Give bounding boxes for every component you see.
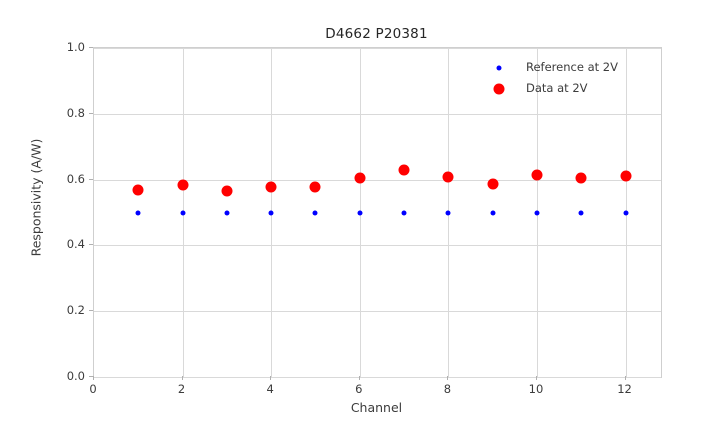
x-tick-label: 4 xyxy=(250,382,290,396)
data-point-data xyxy=(487,179,498,190)
x-tick-label: 2 xyxy=(162,382,202,396)
data-point-reference xyxy=(269,210,274,215)
chart-figure: D4662 P20381 0.00.20.40.60.81.0 Channel … xyxy=(0,0,720,432)
x-tick-label: 8 xyxy=(427,382,467,396)
x-tick-mark xyxy=(93,376,94,380)
y-tick-label: 0.4 xyxy=(45,237,85,251)
y-tick-label: 0.6 xyxy=(45,172,85,186)
data-point-reference xyxy=(446,210,451,215)
data-point-reference xyxy=(490,210,495,215)
data-point-data xyxy=(133,185,144,196)
data-point-data xyxy=(354,172,365,183)
y-tick-label: 0.2 xyxy=(45,303,85,317)
data-point-data xyxy=(576,172,587,183)
data-point-reference xyxy=(180,210,185,215)
gridline-horizontal xyxy=(94,377,661,378)
data-point-reference xyxy=(534,210,539,215)
chart-title: D4662 P20381 xyxy=(93,26,660,42)
x-tick-mark xyxy=(270,376,271,380)
x-tick-mark xyxy=(359,376,360,380)
data-point-data xyxy=(399,165,410,176)
x-tick-label: 10 xyxy=(516,382,556,396)
data-point-reference xyxy=(623,210,628,215)
legend-marker-data-icon xyxy=(494,84,505,95)
y-tick-mark xyxy=(89,113,93,114)
data-point-reference xyxy=(579,210,584,215)
data-point-data xyxy=(443,171,454,182)
x-axis-label: Channel xyxy=(93,400,660,415)
x-tick-mark xyxy=(182,376,183,380)
chart-legend: Reference at 2VData at 2V xyxy=(489,58,649,102)
y-tick-label: 0.8 xyxy=(45,106,85,120)
y-tick-mark xyxy=(89,179,93,180)
data-point-data xyxy=(266,181,277,192)
data-point-reference xyxy=(357,210,362,215)
legend-marker-reference-icon xyxy=(497,66,502,71)
x-tick-label: 0 xyxy=(73,382,113,396)
legend-label: Reference at 2V xyxy=(526,60,618,74)
legend-item: Data at 2V xyxy=(489,79,649,99)
y-axis-label: Responsivity (A/W) xyxy=(29,58,44,338)
data-point-reference xyxy=(136,210,141,215)
data-point-data xyxy=(531,169,542,180)
y-tick-mark xyxy=(89,47,93,48)
data-point-data xyxy=(620,170,631,181)
x-tick-mark xyxy=(447,376,448,380)
y-tick-mark xyxy=(89,310,93,311)
data-point-reference xyxy=(313,210,318,215)
legend-item: Reference at 2V xyxy=(489,58,649,78)
x-tick-mark xyxy=(625,376,626,380)
x-tick-label: 12 xyxy=(605,382,645,396)
y-tick-label: 1.0 xyxy=(45,40,85,54)
y-tick-label: 0.0 xyxy=(45,369,85,383)
x-tick-mark xyxy=(536,376,537,380)
data-point-data xyxy=(221,186,232,197)
legend-label: Data at 2V xyxy=(526,81,588,95)
y-tick-mark xyxy=(89,244,93,245)
data-point-reference xyxy=(224,210,229,215)
x-tick-label: 6 xyxy=(339,382,379,396)
data-point-reference xyxy=(402,210,407,215)
data-point-data xyxy=(310,181,321,192)
data-point-data xyxy=(177,179,188,190)
